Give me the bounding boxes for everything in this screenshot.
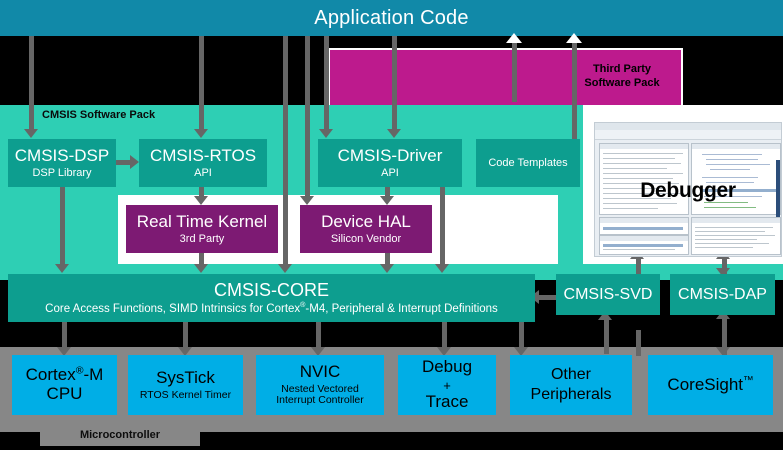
device-hal-title: Device HAL [321, 213, 411, 232]
connector-app-to-core [283, 36, 288, 266]
third-party-line2: Software Pack [584, 77, 659, 91]
arrowhead-driver-to-hal [380, 196, 394, 205]
cmsis-svd-title: CMSIS-SVD [564, 286, 653, 304]
connector-hw-to-svd [604, 318, 609, 354]
nvic-box: NVIC Nested Vectored Interrupt Controlle… [256, 355, 384, 415]
registered-icon: ® [76, 365, 84, 377]
connector-app-to-dsp [29, 36, 34, 131]
connector-app-to-driver [324, 36, 329, 131]
debugger-memory-panel [599, 217, 689, 235]
cmsis-driver-box: CMSIS-Driver API [318, 139, 462, 187]
arrowhead-app-to-rtos [194, 129, 208, 138]
code-templates-mid-box: Code Templates [476, 139, 580, 187]
cmsis-rtos-subtitle: API [194, 167, 212, 179]
third-party-line1: Third Party [593, 63, 651, 77]
debugger-console-panel [691, 217, 781, 255]
real-time-kernel-box: Real Time Kernel 3rd Party [126, 205, 278, 253]
systick-title: SysTick [156, 369, 215, 388]
other-peripherals-line1: Other [551, 365, 591, 385]
cmsis-architecture-diagram: Application Code Third Party Software Pa… [0, 0, 783, 450]
cortex-m-suffix: -M [84, 365, 104, 384]
panel-header [600, 236, 688, 241]
microcontroller-label: Microcontroller [40, 424, 200, 446]
connector-core-to-peripherals [519, 322, 524, 349]
nvic-title: NVIC [300, 363, 341, 382]
connector-core-to-systick [183, 322, 188, 349]
connector-app-to-hal [305, 36, 310, 198]
device-hal-subtitle: Silicon Vendor [331, 233, 401, 245]
cmsis-dsp-box: CMSIS-DSP DSP Library [8, 139, 116, 187]
panel-header [600, 144, 688, 149]
connector-middleware-to-driver [392, 36, 397, 131]
cortex-label: Cortex [26, 365, 76, 384]
cmsis-core-box: CMSIS-CORE Core Access Functions, SIMD I… [8, 274, 535, 322]
arrowhead-app-to-core [278, 264, 292, 273]
cortex-m-cpu-title: Cortex®-M [26, 366, 104, 385]
debugger-screenshot: Debugger [594, 122, 782, 257]
panel-header [692, 218, 780, 223]
application-code-label: Application Code [314, 7, 468, 30]
arrowhead-app-to-dsp [24, 129, 38, 138]
cortex-m-cpu-box: Cortex®-M CPU [12, 355, 117, 415]
debugger-menubar [595, 123, 781, 130]
connector-thirdparty-to-app [572, 40, 577, 139]
systick-box: SysTick RTOS Kernel Timer [128, 355, 243, 415]
connector-coresight-tick [636, 330, 641, 356]
arrowhead-codetemplates-to-app [506, 33, 522, 43]
arrowhead-thirdparty-to-app [566, 33, 582, 43]
trademark-icon: ™ [743, 374, 754, 386]
connector-app-to-rtos [199, 36, 204, 131]
application-code-band: Application Code [0, 0, 783, 36]
debugger-toolbar [595, 130, 781, 140]
coresight-box: CoreSight™ [648, 355, 773, 415]
cmsis-software-pack-label: CMSIS Software Pack [34, 105, 184, 125]
debug-trace-line1: Debug [422, 358, 472, 377]
arrowhead-app-to-hal [300, 196, 314, 205]
connector-core-to-nvic [316, 322, 321, 349]
real-time-kernel-title: Real Time Kernel [137, 213, 267, 232]
cmsis-driver-title: CMSIS-Driver [338, 147, 443, 166]
code-templates-mid-title: Code Templates [488, 157, 567, 169]
other-peripherals-box: Other Peripherals [510, 355, 632, 415]
third-party-software-pack-label: Third Party Software Pack [563, 50, 681, 103]
connector-driver-right-to-core [440, 187, 445, 266]
cmsis-dap-box: CMSIS-DAP [670, 274, 775, 315]
cmsis-svd-box: CMSIS-SVD [556, 274, 660, 315]
real-time-kernel-subtitle: 3rd Party [180, 233, 225, 245]
arrowhead-middleware-to-driver [387, 129, 401, 138]
third-party-software-pack-region: Third Party Software Pack Middleware Cod… [328, 48, 683, 105]
panel-header [692, 144, 780, 149]
arrowhead-dsp-to-core [55, 264, 69, 273]
cmsis-rtos-title: CMSIS-RTOS [150, 147, 256, 166]
debug-trace-plus: + [443, 379, 451, 393]
arrowhead-hal-to-core [380, 264, 394, 273]
debug-trace-line3: Trace [426, 393, 469, 412]
device-hal-box: Device HAL Silicon Vendor [300, 205, 432, 253]
cmsis-core-subtitle: Core Access Functions, SIMD Intrinsics f… [45, 303, 498, 316]
cmsis-driver-subtitle: API [381, 167, 399, 179]
nvic-subtitle-line2: Interrupt Controller [276, 395, 364, 407]
connector-codetemplates-to-app [512, 40, 517, 102]
connector-dsp-to-core [60, 187, 65, 266]
connector-core-to-debug [442, 322, 447, 349]
debugger-label: Debugger [595, 179, 781, 203]
systick-subtitle: RTOS Kernel Timer [140, 390, 231, 402]
cmsis-rtos-box: CMSIS-RTOS API [139, 139, 267, 187]
coresight-title: CoreSight™ [667, 376, 753, 395]
debugger-stack-panel [599, 235, 689, 255]
cmsis-core-subtitle-a: Core Access Functions, SIMD Intrinsics f… [45, 303, 300, 315]
arrowhead-dsp-to-rtos [130, 155, 139, 169]
cmsis-core-subtitle-b: -M4, Peripheral & Interrupt Definitions [305, 303, 497, 315]
cmsis-core-title: CMSIS-CORE [214, 281, 329, 301]
cmsis-dap-title: CMSIS-DAP [678, 286, 767, 304]
coresight-label: CoreSight [667, 375, 743, 394]
arrowhead-rtos-to-rtk [194, 196, 208, 205]
other-peripherals-line2: Peripherals [531, 385, 612, 405]
cortex-m-cpu-line2: CPU [47, 385, 83, 404]
cmsis-dsp-subtitle: DSP Library [32, 167, 91, 179]
arrowhead-rtk-to-core [194, 264, 208, 273]
debug-trace-box: Debug + Trace [398, 355, 496, 415]
panel-header [600, 218, 688, 223]
arrowhead-driver-right-to-core [435, 264, 449, 273]
connector-core-to-cpu [62, 322, 67, 349]
arrowhead-app-to-driver [319, 129, 333, 138]
cmsis-dsp-title: CMSIS-DSP [15, 147, 109, 166]
